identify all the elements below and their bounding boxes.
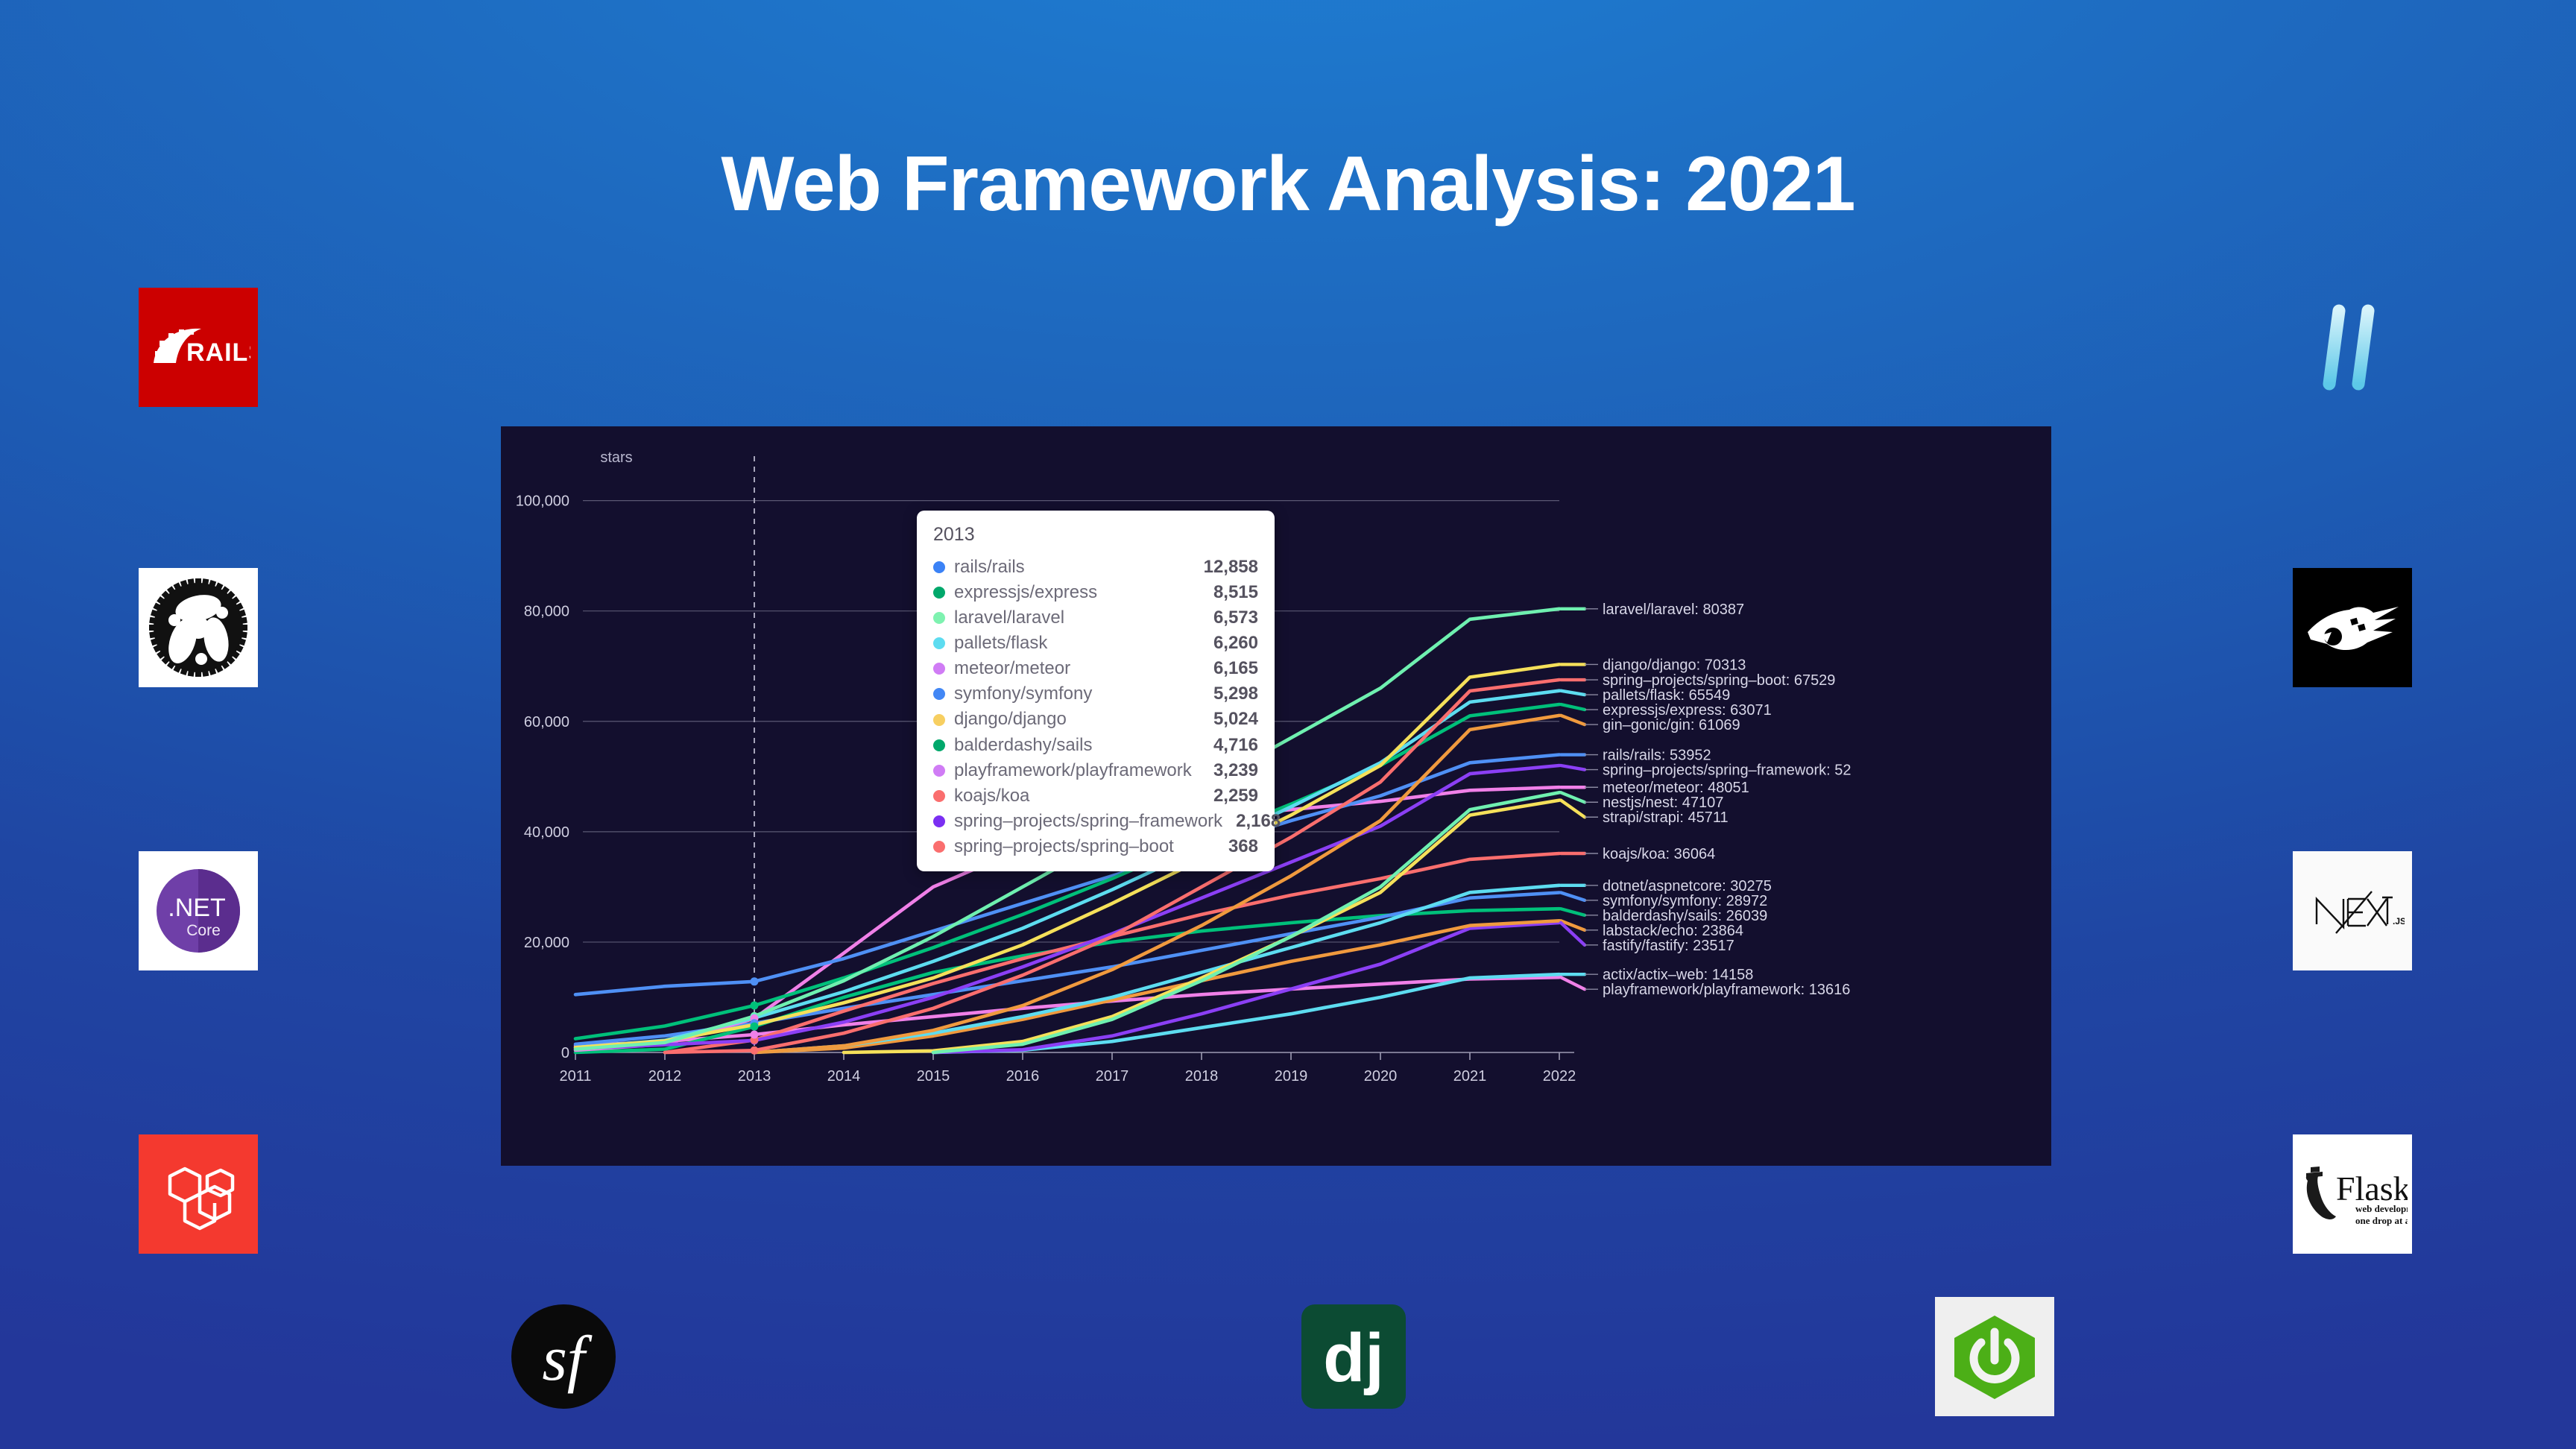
series-end-label: meteor/meteor: 48051	[1603, 780, 1749, 796]
series-end-label: dotnet/aspnetcore: 30275	[1603, 878, 1772, 894]
flask-tagline-1: web development,	[2355, 1203, 2408, 1214]
flask-tagline-2: one drop at a time	[2355, 1215, 2408, 1226]
series-end-label: playframework/playframework: 13616	[1603, 982, 1850, 998]
tooltip-series-name: balderdashy/sails	[954, 733, 1200, 758]
series-end-label: django/django: 70313	[1603, 657, 1746, 673]
series-end-label: labstack/echo: 23864	[1603, 923, 1743, 939]
nextjs-suffix: .JS	[2393, 916, 2405, 926]
x-tick-label: 2011	[559, 1068, 591, 1085]
tooltip-row: balderdashy/sails4,716	[933, 733, 1258, 758]
x-tick-label: 2015	[917, 1068, 950, 1085]
flask-logo: Flask web development, one drop at a tim…	[2293, 1134, 2412, 1254]
series-end-marker	[1561, 704, 1585, 710]
y-tick-label: 20,000	[524, 935, 569, 951]
tooltip-row: spring–projects/spring–framework2,168	[933, 809, 1258, 834]
tooltip-row: django/django5,024	[933, 707, 1258, 732]
dotnet-core-logo: .NET Core	[139, 851, 258, 970]
series-end-marker	[1561, 691, 1585, 695]
series-end-marker	[1561, 892, 1585, 900]
nextjs-logo: .JS	[2293, 851, 2412, 970]
series-end-label: expressjs/express: 63071	[1603, 702, 1772, 719]
series-end-marker	[1561, 801, 1585, 818]
cursor-point	[751, 1001, 759, 1009]
page-title: Web Framework Analysis: 2021	[0, 142, 2576, 227]
series-color-dot	[933, 815, 945, 827]
cursor-point	[751, 977, 759, 985]
tooltip-series-name: koajs/koa	[954, 783, 1200, 809]
series-end-label: symfony/symfony: 28972	[1603, 893, 1767, 909]
tooltip-year: 2013	[933, 524, 1258, 546]
x-tick-label: 2019	[1275, 1068, 1308, 1085]
tooltip-series-value: 3,239	[1213, 758, 1258, 783]
tooltip-series-value: 2,168	[1236, 809, 1281, 834]
series-color-dot	[933, 790, 945, 802]
tooltip-series-value: 12,858	[1204, 555, 1258, 580]
series-end-marker	[1561, 765, 1585, 770]
series-color-dot	[933, 663, 945, 675]
series-line[interactable]	[665, 853, 1559, 1052]
chart-panel[interactable]: stars020,00040,00060,00080,000100,000201…	[501, 426, 2051, 1166]
flask-wordmark: Flask	[2336, 1169, 2408, 1207]
series-end-label: actix/actix–web: 14158	[1603, 967, 1753, 983]
series-color-dot	[933, 612, 945, 624]
series-end-label: laravel/laravel: 80387	[1603, 602, 1744, 618]
y-axis-title: stars	[600, 449, 632, 466]
series-color-dot	[933, 841, 945, 853]
series-end-label: pallets/flask: 65549	[1603, 687, 1730, 704]
series-end-label: strapi/strapi: 45711	[1603, 809, 1729, 826]
cursor-point	[751, 1046, 759, 1055]
tooltip-series-value: 6,573	[1213, 605, 1258, 631]
y-tick-label: 80,000	[524, 604, 569, 620]
tooltip-row: rails/rails12,858	[933, 555, 1258, 580]
series-end-label: spring–projects/spring–framework: 52	[1603, 763, 1851, 779]
x-tick-label: 2016	[1006, 1068, 1040, 1085]
tooltip-series-value: 6,260	[1213, 631, 1258, 656]
spring-boot-logo	[1935, 1297, 2054, 1416]
series-end-marker	[1561, 909, 1585, 915]
series-end-marker	[1561, 977, 1585, 989]
tooltip-row: playframework/playframework3,239	[933, 758, 1258, 783]
x-tick-label: 2020	[1364, 1068, 1398, 1085]
series-color-dot	[933, 637, 945, 649]
series-color-dot	[933, 765, 945, 777]
tooltip-series-value: 2,259	[1213, 783, 1258, 809]
y-tick-label: 60,000	[524, 714, 569, 730]
tooltip-series-name: symfony/symfony	[954, 681, 1200, 707]
stars-over-time-line-chart[interactable]: stars020,00040,00060,00080,000100,000201…	[501, 426, 2051, 1166]
fastify-logo	[2293, 568, 2412, 687]
tooltip-row: expressjs/express8,515	[933, 580, 1258, 605]
cursor-point	[751, 1031, 759, 1039]
tooltip-row: pallets/flask6,260	[933, 631, 1258, 656]
series-color-dot	[933, 688, 945, 700]
symfony-logo: sf	[504, 1297, 623, 1416]
django-logo: dj	[1294, 1297, 1413, 1416]
x-tick-label: 2012	[648, 1068, 682, 1085]
tooltip-series-value: 6,165	[1213, 656, 1258, 681]
chart-tooltip: 2013 rails/rails12,858expressjs/express8…	[917, 511, 1275, 871]
x-tick-label: 2018	[1185, 1068, 1219, 1085]
tooltip-series-name: laravel/laravel	[954, 605, 1200, 631]
svg-text:dj: dj	[1323, 1320, 1384, 1396]
series-end-label: spring–projects/spring–boot: 67529	[1603, 672, 1835, 689]
series-end-label: nestjs/nest: 47107	[1603, 795, 1723, 811]
series-end-label: koajs/koa: 36064	[1603, 846, 1715, 862]
tooltip-rows: rails/rails12,858expressjs/express8,515l…	[933, 555, 1258, 859]
tooltip-series-value: 5,298	[1213, 681, 1258, 707]
tooltip-row: symfony/symfony5,298	[933, 681, 1258, 707]
tooltip-series-value: 8,515	[1213, 580, 1258, 605]
tooltip-series-value: 4,716	[1213, 733, 1258, 758]
tooltip-series-name: meteor/meteor	[954, 656, 1200, 681]
tooltip-row: spring–projects/spring–boot368	[933, 834, 1258, 859]
sails-logo	[139, 568, 258, 687]
svg-text:Core: Core	[186, 922, 221, 939]
x-tick-label: 2022	[1543, 1068, 1576, 1085]
tooltip-row: laravel/laravel6,573	[933, 605, 1258, 631]
rails-logo: RAILS	[139, 288, 258, 407]
tooltip-series-name: rails/rails	[954, 555, 1190, 580]
y-tick-label: 100,000	[516, 493, 569, 510]
laravel-logo	[139, 1134, 258, 1254]
series-color-dot	[933, 561, 945, 573]
svg-text:sf: sf	[542, 1322, 592, 1394]
series-color-dot	[933, 714, 945, 726]
tooltip-series-name: spring–projects/spring–boot	[954, 834, 1215, 859]
cursor-point	[751, 1023, 759, 1031]
svg-text:.NET: .NET	[168, 894, 225, 922]
x-tick-label: 2013	[738, 1068, 771, 1085]
tooltip-series-name: django/django	[954, 707, 1200, 732]
svg-text:RAILS: RAILS	[186, 338, 250, 367]
series-color-dot	[933, 739, 945, 751]
x-tick-label: 2017	[1096, 1068, 1129, 1085]
tooltip-series-name: playframework/playframework	[954, 758, 1200, 783]
tooltip-series-name: spring–projects/spring–framework	[954, 809, 1222, 834]
tooltip-series-name: expressjs/express	[954, 580, 1200, 605]
x-tick-label: 2014	[827, 1068, 861, 1085]
y-tick-label: 40,000	[524, 824, 569, 841]
tooltip-series-value: 368	[1228, 834, 1258, 859]
tooltip-row: meteor/meteor6,165	[933, 656, 1258, 681]
tooltip-row: koajs/koa2,259	[933, 783, 1258, 809]
tooltip-series-name: pallets/flask	[954, 631, 1200, 656]
series-color-dot	[933, 587, 945, 599]
hashtag-logo	[2293, 288, 2412, 407]
y-tick-label: 0	[561, 1045, 569, 1061]
tooltip-series-value: 5,024	[1213, 707, 1258, 732]
series-end-label: fastify/fastify: 23517	[1603, 938, 1734, 954]
series-end-label: rails/rails: 53952	[1603, 748, 1711, 764]
series-end-label: balderdashy/sails: 26039	[1603, 908, 1767, 924]
series-end-marker	[1561, 716, 1585, 724]
x-tick-label: 2021	[1453, 1068, 1487, 1085]
series-end-label: gin–gonic/gin: 61069	[1603, 717, 1740, 733]
